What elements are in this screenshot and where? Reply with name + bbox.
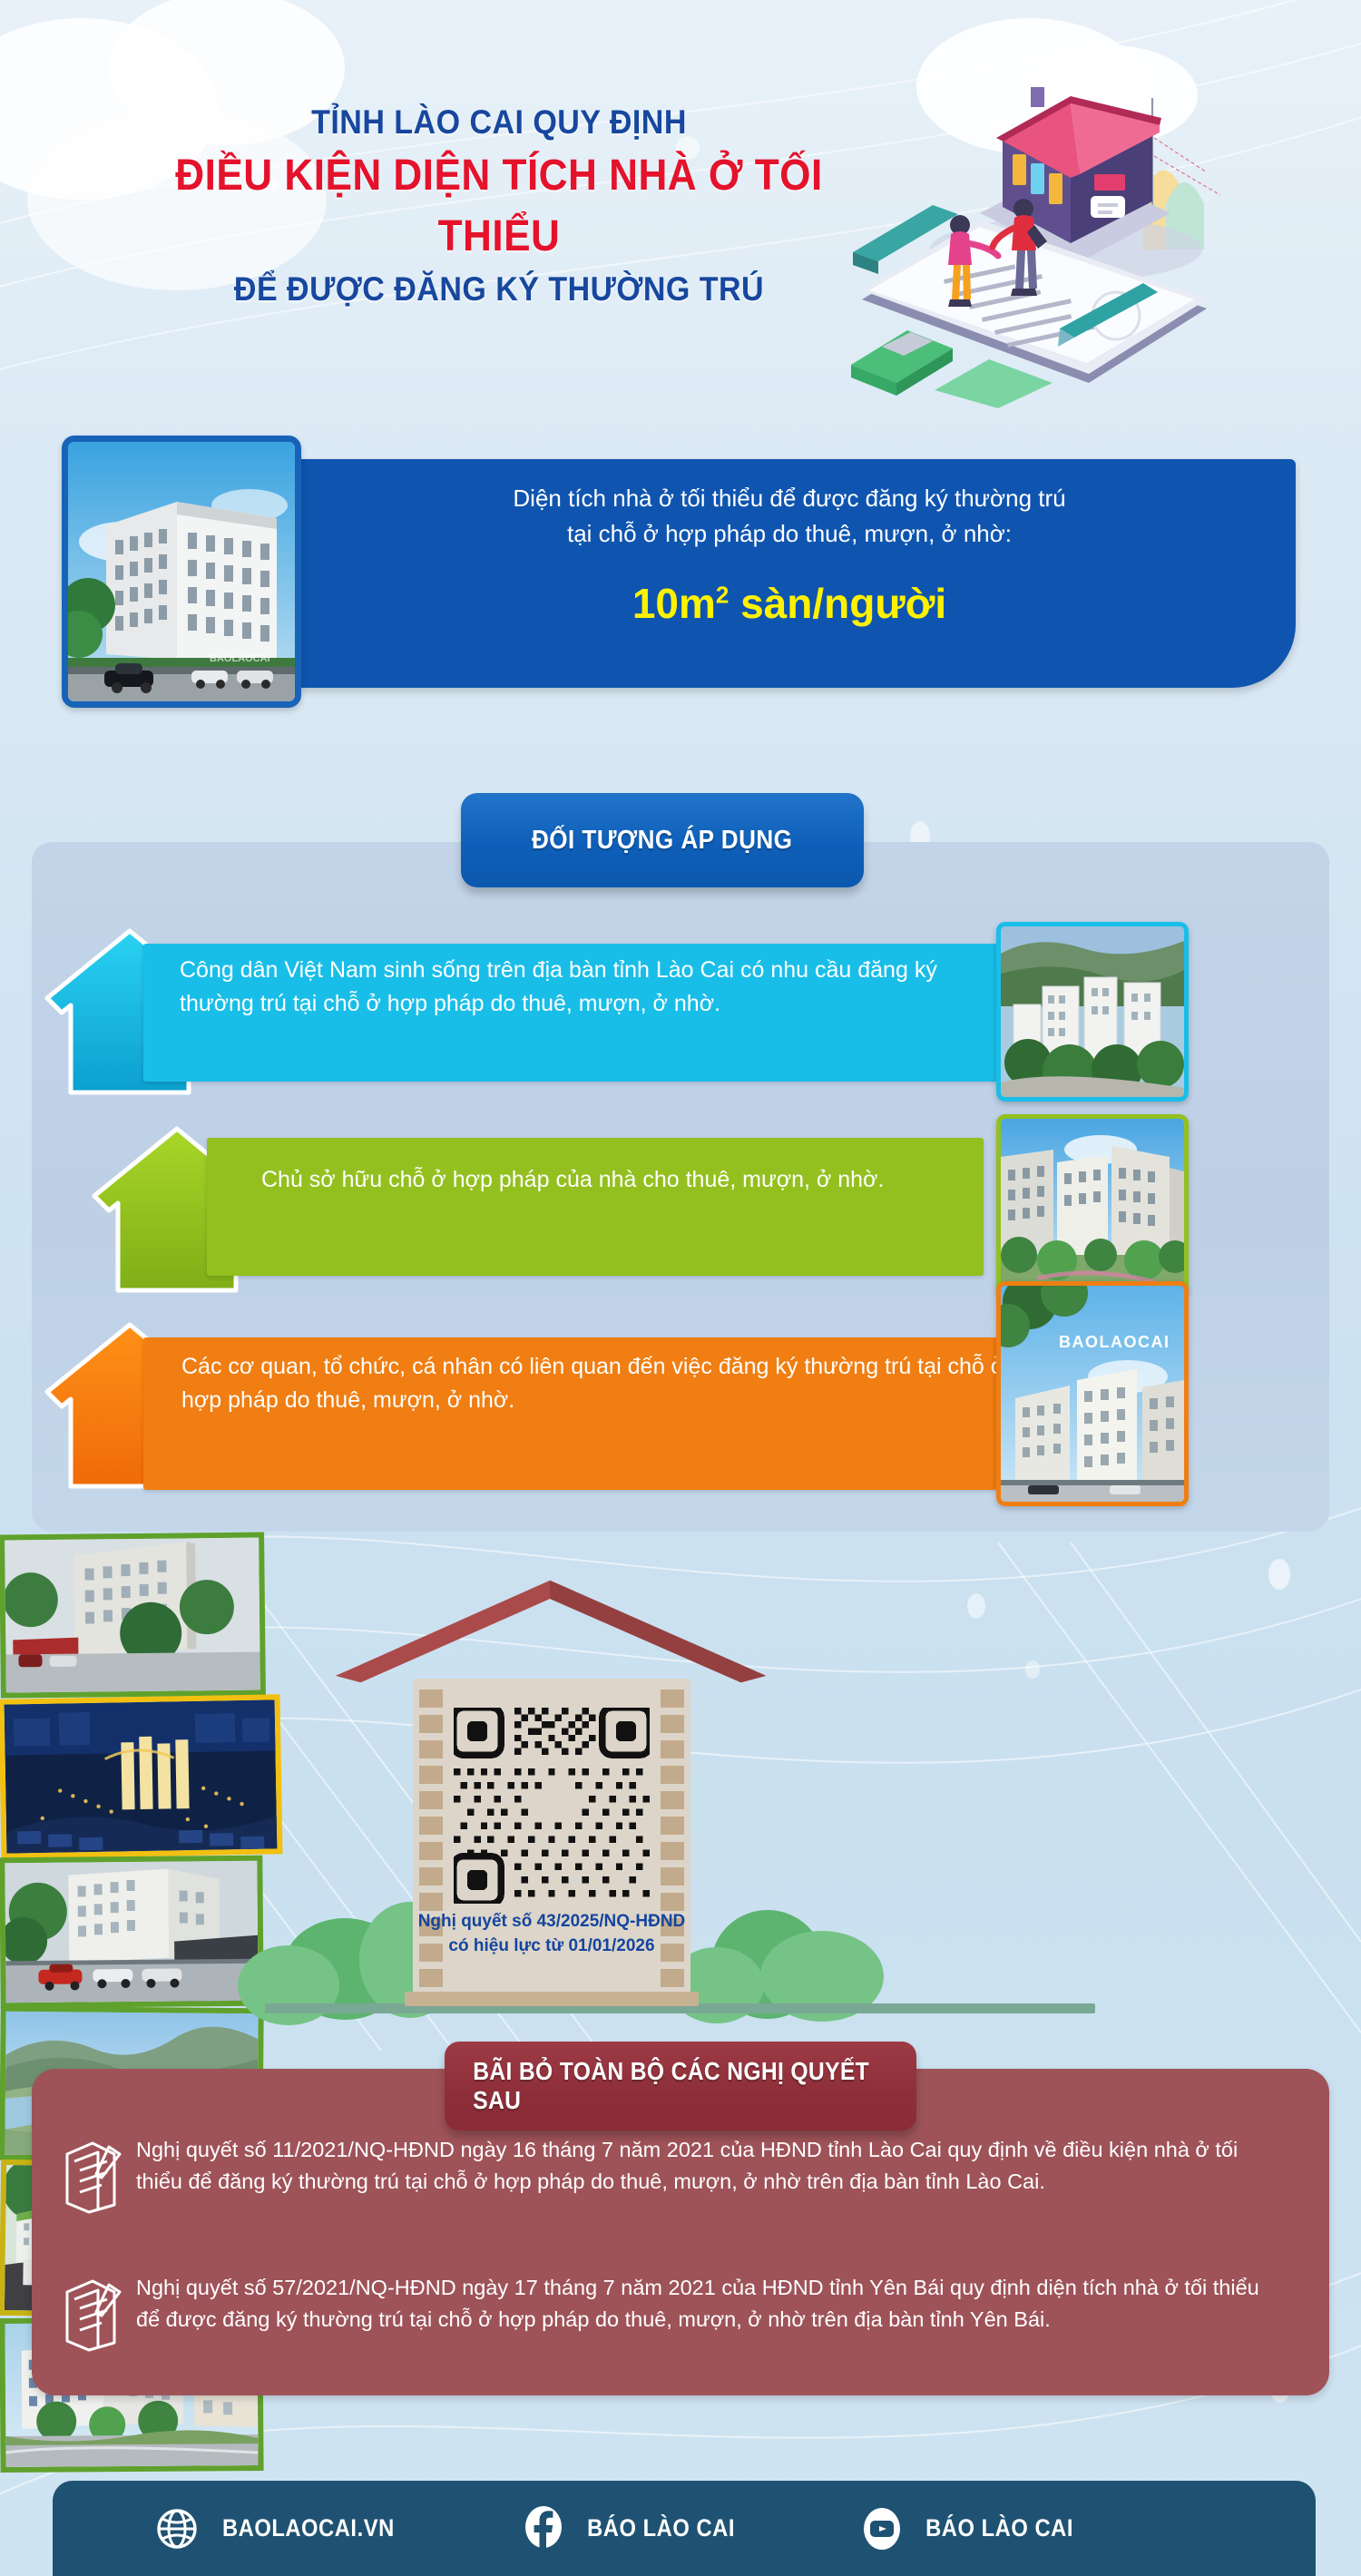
- qr-caption-line-1: Nghị quyết số 43/2025/NQ-HĐND: [417, 1910, 686, 1934]
- applies-text-1: Công dân Việt Nam sinh sống trên địa bàn…: [180, 954, 996, 1021]
- footer-bar: BAOLAOCAI.VN BÁO LÀO CAI BÁO LÀO CAI: [53, 2481, 1316, 2576]
- applies-row-1: Công dân Việt Nam sinh sống trên địa bàn…: [44, 924, 1332, 1105]
- footer-link-youtube[interactable]: BÁO LÀO CAI: [861, 2507, 1083, 2551]
- title-line-3: ĐỂ ĐƯỢC ĐĂNG KÝ THƯỜNG TRÚ: [165, 267, 833, 312]
- house-base-sill: [405, 1992, 699, 2006]
- facebook-icon: [523, 2506, 564, 2552]
- applies-photo-1: [996, 922, 1189, 1102]
- footer-link-facebook[interactable]: BÁO LÀO CAI: [523, 2506, 745, 2552]
- hero-value-superscript: 2: [716, 582, 729, 609]
- qr-house-section: Nghị quyết số 43/2025/NQ-HĐND có hiệu lự…: [0, 1533, 1361, 2042]
- footer-link-website[interactable]: BAOLAOCAI.VN: [156, 2508, 406, 2550]
- title-line-2: ĐIỀU KIỆN DIỆN TÍCH NHÀ Ở TỐI THIỂU: [165, 145, 833, 267]
- hero-photo: BAOLAOCAI: [62, 436, 301, 708]
- applies-row-2: Chủ sở hữu chỗ ở hợp pháp của nhà cho th…: [91, 1121, 1334, 1303]
- applies-text-2: Chủ sở hữu chỗ ở hợp pháp của nhà cho th…: [261, 1163, 951, 1197]
- repeal-item-2: Nghị quyết số 57/2021/NQ-HĐND ngày 17 th…: [136, 2272, 1288, 2336]
- title-line-1: TỈNH LÀO CAI QUY ĐỊNH: [165, 100, 833, 145]
- applies-row-3: Các cơ quan, tổ chức, cá nhân có liên qu…: [44, 1317, 1332, 1517]
- hero-value-number: 10m: [632, 580, 716, 627]
- applies-photo-3: BAOLAOCAI: [996, 1281, 1189, 1506]
- hero-banner: BAOLAOCAI Diện tích nhà ở tối thiểu để đ…: [0, 416, 1361, 742]
- house-roof: [325, 1577, 778, 1686]
- hero-value-unit: sàn/người: [729, 580, 946, 627]
- globe-icon: [156, 2508, 198, 2550]
- hero-description-line-2: tại chỗ ở hợp pháp do thuê, mượn, ở nhờ:: [308, 516, 1270, 552]
- applies-section-badge: ĐỐI TƯỢNG ÁP DỤNG: [461, 793, 864, 887]
- page-title: TỈNH LÀO CAI QUY ĐỊNH ĐIỀU KIỆN DIỆN TÍC…: [136, 100, 862, 312]
- footer-website-label: BAOLAOCAI.VN: [222, 2514, 395, 2542]
- hero-description: Diện tích nhà ở tối thiểu để được đăng k…: [308, 481, 1270, 552]
- qr-caption: Nghị quyết số 43/2025/NQ-HĐND có hiệu lự…: [417, 1910, 686, 1959]
- applies-text-3: Các cơ quan, tổ chức, cá nhân có liên qu…: [181, 1350, 1016, 1417]
- applies-photo-2: BAOLAOCAI: [996, 1114, 1189, 1296]
- youtube-icon: [861, 2507, 903, 2551]
- document-pencil-icon: [62, 2138, 125, 2216]
- hero-value: 10m2 sàn/người: [308, 579, 1270, 628]
- repeal-section-badge: BÃI BỎ TOÀN BỘ CÁC NGHỊ QUYẾT SAU: [445, 2042, 916, 2130]
- qr-caption-line-2: có hiệu lực từ 01/01/2026: [417, 1934, 686, 1959]
- header: TỈNH LÀO CAI QUY ĐỊNH ĐIỀU KIỆN DIỆN TÍC…: [0, 0, 1361, 399]
- qr-code[interactable]: [454, 1708, 650, 1904]
- document-pencil-icon: [62, 2276, 125, 2354]
- applies-badge-label: ĐỐI TƯỢNG ÁP DỤNG: [532, 826, 792, 856]
- footer-facebook-label: BÁO LÀO CAI: [587, 2514, 735, 2542]
- header-illustration: [844, 27, 1352, 408]
- hero-description-line-1: Diện tích nhà ở tối thiểu để được đăng k…: [308, 481, 1270, 516]
- footer-youtube-label: BÁO LÀO CAI: [925, 2514, 1073, 2542]
- repeal-item-1: Nghị quyết số 11/2021/NQ-HĐND ngày 16 th…: [136, 2134, 1288, 2199]
- applies-ribbon-2: [207, 1138, 984, 1276]
- photo-watermark: BAOLAOCAI: [1059, 1333, 1170, 1351]
- repeal-badge-label: BÃI BỎ TOÀN BỘ CÁC NGHỊ QUYẾT SAU: [473, 2057, 888, 2115]
- svg-text:BAOLAOCAI: BAOLAOCAI: [210, 653, 270, 664]
